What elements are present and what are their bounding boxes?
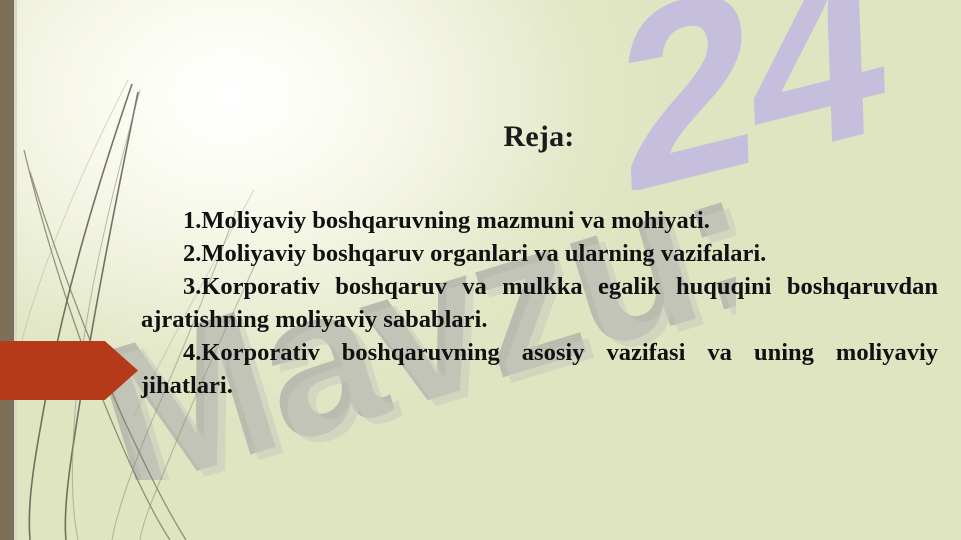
agenda-item-1: 1.Moliyaviy boshqaruvning mazmuni va moh… (141, 205, 938, 238)
agenda-item-4: 4.Korporativ boshqaruvning asosiy vazifa… (141, 337, 938, 403)
agenda-item-3: 3.Korporativ boshqaruv va mulkka egalik … (141, 271, 938, 337)
agenda-list: 1.Moliyaviy boshqaruvning mazmuni va moh… (141, 205, 938, 403)
slide-title: Reja: (141, 120, 937, 154)
agenda-item-2: 2.Moliyaviy boshqaruv organlari va ularn… (141, 238, 938, 271)
left-hairline (14, 0, 17, 540)
left-accent-band (0, 0, 14, 540)
slide-canvas: 24 Mavzu: Mavzu: (0, 0, 961, 540)
